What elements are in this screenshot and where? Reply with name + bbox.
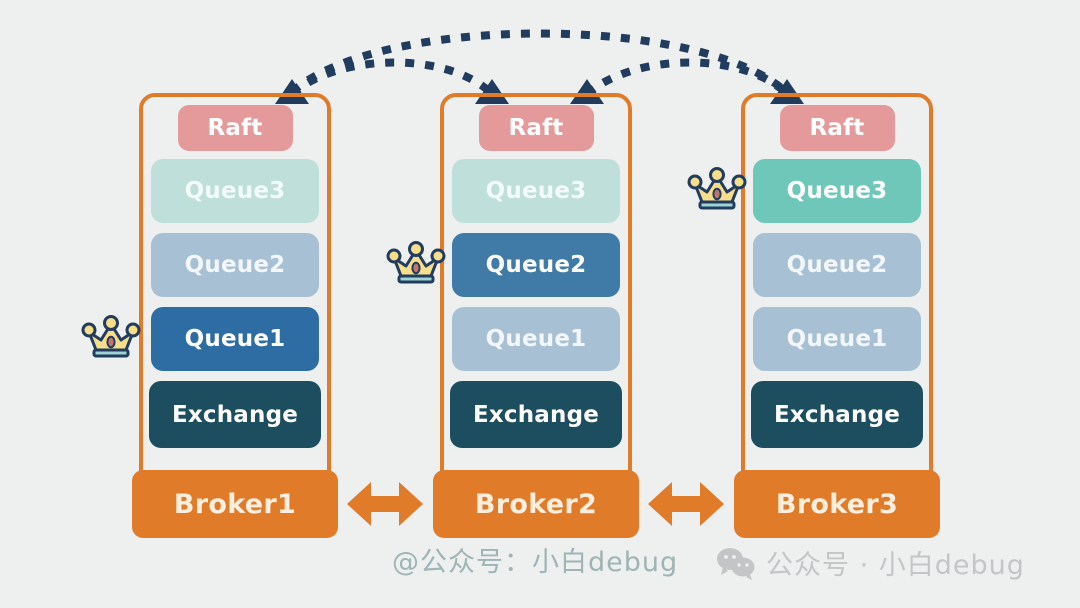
watermark-right-text: 公众号 · 小白debug: [766, 543, 1025, 582]
raft-link-broker1-broker3: [292, 34, 786, 93]
queue-block-broker2-queue3[interactable]: Queue3: [452, 159, 620, 223]
exchange-block-broker2[interactable]: Exchange: [450, 381, 622, 448]
queue-block-broker1-queue2[interactable]: Queue2: [151, 233, 319, 297]
queue-block-broker3-queue1[interactable]: Queue1: [753, 307, 921, 371]
queue-block-broker1-queue3[interactable]: Queue3: [151, 159, 319, 223]
queue-block-broker3-queue2[interactable]: Queue2: [753, 233, 921, 297]
exchange-block-broker1[interactable]: Exchange: [149, 381, 321, 448]
broker-footer-broker1[interactable]: Broker1: [132, 470, 338, 538]
raft-link-broker1-broker2: [292, 63, 492, 95]
raft-badge-broker1[interactable]: Raft: [178, 105, 293, 151]
broker-card-broker2[interactable]: Raft Queue3 Queue2 Queue1 Exchange: [440, 93, 632, 533]
watermark-left-text: @公众号：小白debug: [392, 540, 678, 579]
queue-block-broker2-queue2[interactable]: Queue2: [452, 233, 620, 297]
crown-icon-broker2-leader: [385, 236, 447, 290]
raft-link-broker2-broker3: [587, 63, 787, 95]
wechat-logo-icon: [716, 546, 756, 580]
queue-block-broker2-queue1[interactable]: Queue1: [452, 307, 620, 371]
broker-card-broker3[interactable]: Raft Queue3 Queue2 Queue1 Exchange: [741, 93, 933, 533]
raft-badge-broker2[interactable]: Raft: [479, 105, 594, 151]
diagram-canvas: Raft Queue3 Queue2 Queue1 Exchange Broke…: [0, 0, 1080, 608]
exchange-block-broker3[interactable]: Exchange: [751, 381, 923, 448]
broker-card-contents: Raft Queue3 Queue2 Queue1 Exchange: [444, 97, 628, 529]
crown-icon-broker3-leader: [686, 162, 748, 216]
watermark-right: 公众号 · 小白debug: [716, 543, 1025, 582]
raft-badge-broker3[interactable]: Raft: [780, 105, 895, 151]
double-arrow-icon-broker1-broker2: [347, 474, 423, 534]
broker-footer-broker3[interactable]: Broker3: [734, 470, 940, 538]
double-arrow-icon-broker2-broker3: [648, 474, 724, 534]
queue-block-broker1-queue1[interactable]: Queue1: [151, 307, 319, 371]
broker-card-contents: Raft Queue3 Queue2 Queue1 Exchange: [745, 97, 929, 529]
broker-card-broker1[interactable]: Raft Queue3 Queue2 Queue1 Exchange: [139, 93, 331, 533]
crown-icon-broker1-leader: [80, 310, 142, 364]
broker-footer-broker2[interactable]: Broker2: [433, 470, 639, 538]
broker-card-contents: Raft Queue3 Queue2 Queue1 Exchange: [143, 97, 327, 529]
queue-block-broker3-queue3[interactable]: Queue3: [753, 159, 921, 223]
